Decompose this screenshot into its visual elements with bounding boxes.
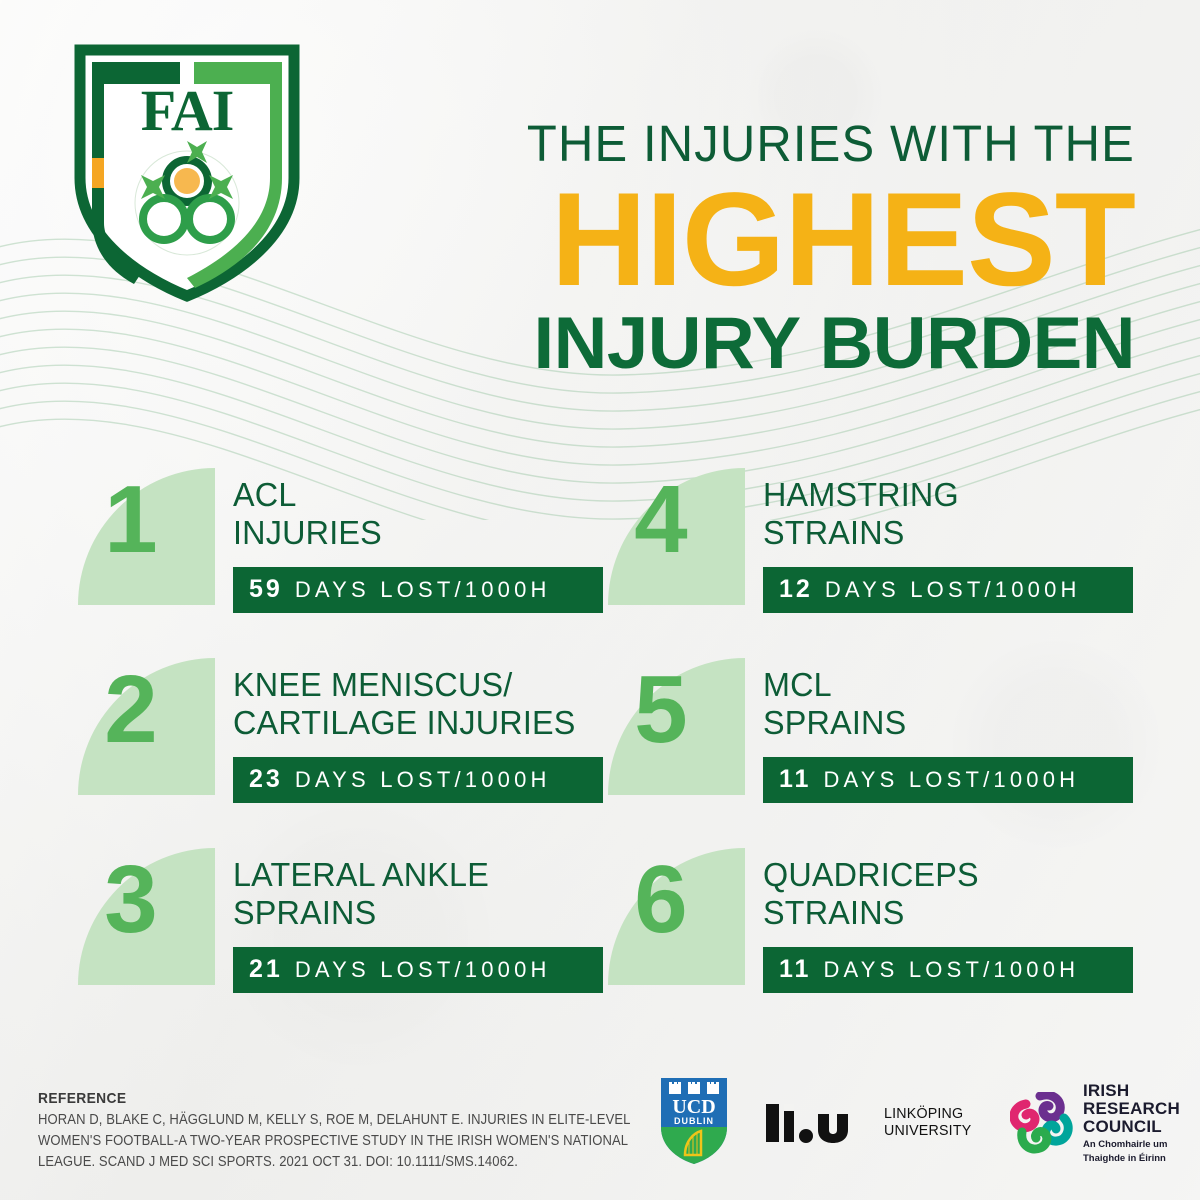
liu-line-2: UNIVERSITY: [884, 1123, 971, 1140]
linkoping-university-logo: LINKÖPING UNIVERSITY: [764, 1102, 976, 1144]
ranking-item-4: 4 HAMSTRING STRAINS 12 DAYS LOST/1000H: [608, 468, 1138, 658]
stat-value: 11: [779, 765, 811, 794]
rank-number: 2: [84, 664, 176, 756]
ranking-item-1: 1 ACL INJURIES 59 DAYS LOST/1000H: [78, 468, 608, 658]
rank-number: 5: [614, 664, 706, 756]
stat-bar: 12 DAYS LOST/1000H: [763, 567, 1133, 613]
irc-line-2: RESEARCH: [1083, 1100, 1180, 1118]
irish-research-council-logo: IRISH RESEARCH COUNCIL An Chomhairle um …: [1010, 1082, 1180, 1165]
ucd-dublin-logo: UCD DUBLIN: [658, 1075, 730, 1172]
ranking-item-6: 6 QUADRICEPS STRAINS 11 DAYS LOST/1000H: [608, 848, 1138, 1038]
irc-line-1: IRISH: [1083, 1082, 1180, 1100]
stat-bar: 11 DAYS LOST/1000H: [763, 947, 1133, 993]
stat-bar: 23 DAYS LOST/1000H: [233, 757, 603, 803]
injury-name: HAMSTRING STRAINS: [763, 476, 1135, 553]
rank-number: 1: [84, 474, 176, 566]
rank-number: 6: [614, 854, 706, 946]
partner-logos: UCD DUBLIN LINKÖPING UNIVERS: [658, 1068, 1180, 1178]
stat-unit: DAYS LOST/1000H: [295, 577, 551, 603]
stat-value: 59: [249, 575, 283, 604]
title-line-1: THE INJURIES WITH THE: [482, 118, 1135, 171]
title-line-3-injury-burden: INJURY BURDEN: [441, 307, 1135, 380]
injury-name: MCL SPRAINS: [763, 666, 1135, 743]
injury-name: LATERAL ANKLE SPRAINS: [233, 856, 596, 933]
stat-bar: 11 DAYS LOST/1000H: [763, 757, 1133, 803]
fai-crest-logo: FAI: [62, 38, 312, 303]
page-title: THE INJURIES WITH THE HIGHEST INJURY BUR…: [455, 118, 1135, 380]
svg-text:DUBLIN: DUBLIN: [674, 1116, 714, 1126]
injury-name: ACL INJURIES: [233, 476, 596, 553]
stat-value: 23: [249, 765, 283, 794]
stat-bar: 59 DAYS LOST/1000H: [233, 567, 603, 613]
svg-text:UCD: UCD: [672, 1096, 715, 1118]
rank-number: 4: [614, 474, 706, 566]
irc-line-3: COUNCIL: [1083, 1118, 1180, 1136]
rank-number: 3: [84, 854, 176, 946]
irc-swirl-icon: [1010, 1092, 1074, 1154]
liu-line-1: LINKÖPING: [884, 1106, 971, 1123]
reference-citation: HORAN D, BLAKE C, HÄGGLUND M, KELLY S, R…: [38, 1110, 632, 1173]
injury-name: QUADRICEPS STRAINS: [763, 856, 1135, 933]
ranking-item-3: 3 LATERAL ANKLE SPRAINS 21 DAYS LOST/100…: [78, 848, 608, 1038]
stat-value: 11: [779, 955, 811, 984]
irc-subtitle-2: Thaighde in Éirinn: [1083, 1153, 1180, 1164]
svg-text:FAI: FAI: [141, 78, 234, 143]
stat-bar: 21 DAYS LOST/1000H: [233, 947, 603, 993]
injury-name: KNEE MENISCUS/ CARTILAGE INJURIES: [233, 666, 596, 743]
stat-unit: DAYS LOST/1000H: [295, 957, 551, 983]
reference-heading: REFERENCE: [38, 1090, 590, 1107]
reference-block: REFERENCE HORAN D, BLAKE C, HÄGGLUND M, …: [38, 1090, 638, 1173]
stat-unit: DAYS LOST/1000H: [295, 767, 551, 793]
ranking-item-2: 2 KNEE MENISCUS/ CARTILAGE INJURIES 23 D…: [78, 658, 608, 848]
stat-value: 12: [779, 575, 813, 604]
infographic-poster: FAI THE INJURIES WITH THE HIGHEST INJURY…: [0, 0, 1200, 1200]
irc-subtitle-1: An Chomhairle um: [1083, 1139, 1180, 1150]
stat-unit: DAYS LOST/1000H: [825, 577, 1081, 603]
stat-unit: DAYS LOST/1000H: [823, 957, 1079, 983]
stat-value: 21: [249, 955, 283, 984]
stat-unit: DAYS LOST/1000H: [823, 767, 1079, 793]
injury-ranking-grid: 1 ACL INJURIES 59 DAYS LOST/1000H 4 HAMS…: [78, 468, 1138, 1038]
title-line-2-highest: HIGHEST: [455, 177, 1135, 303]
ranking-item-5: 5 MCL SPRAINS 11 DAYS LOST/1000H: [608, 658, 1138, 848]
